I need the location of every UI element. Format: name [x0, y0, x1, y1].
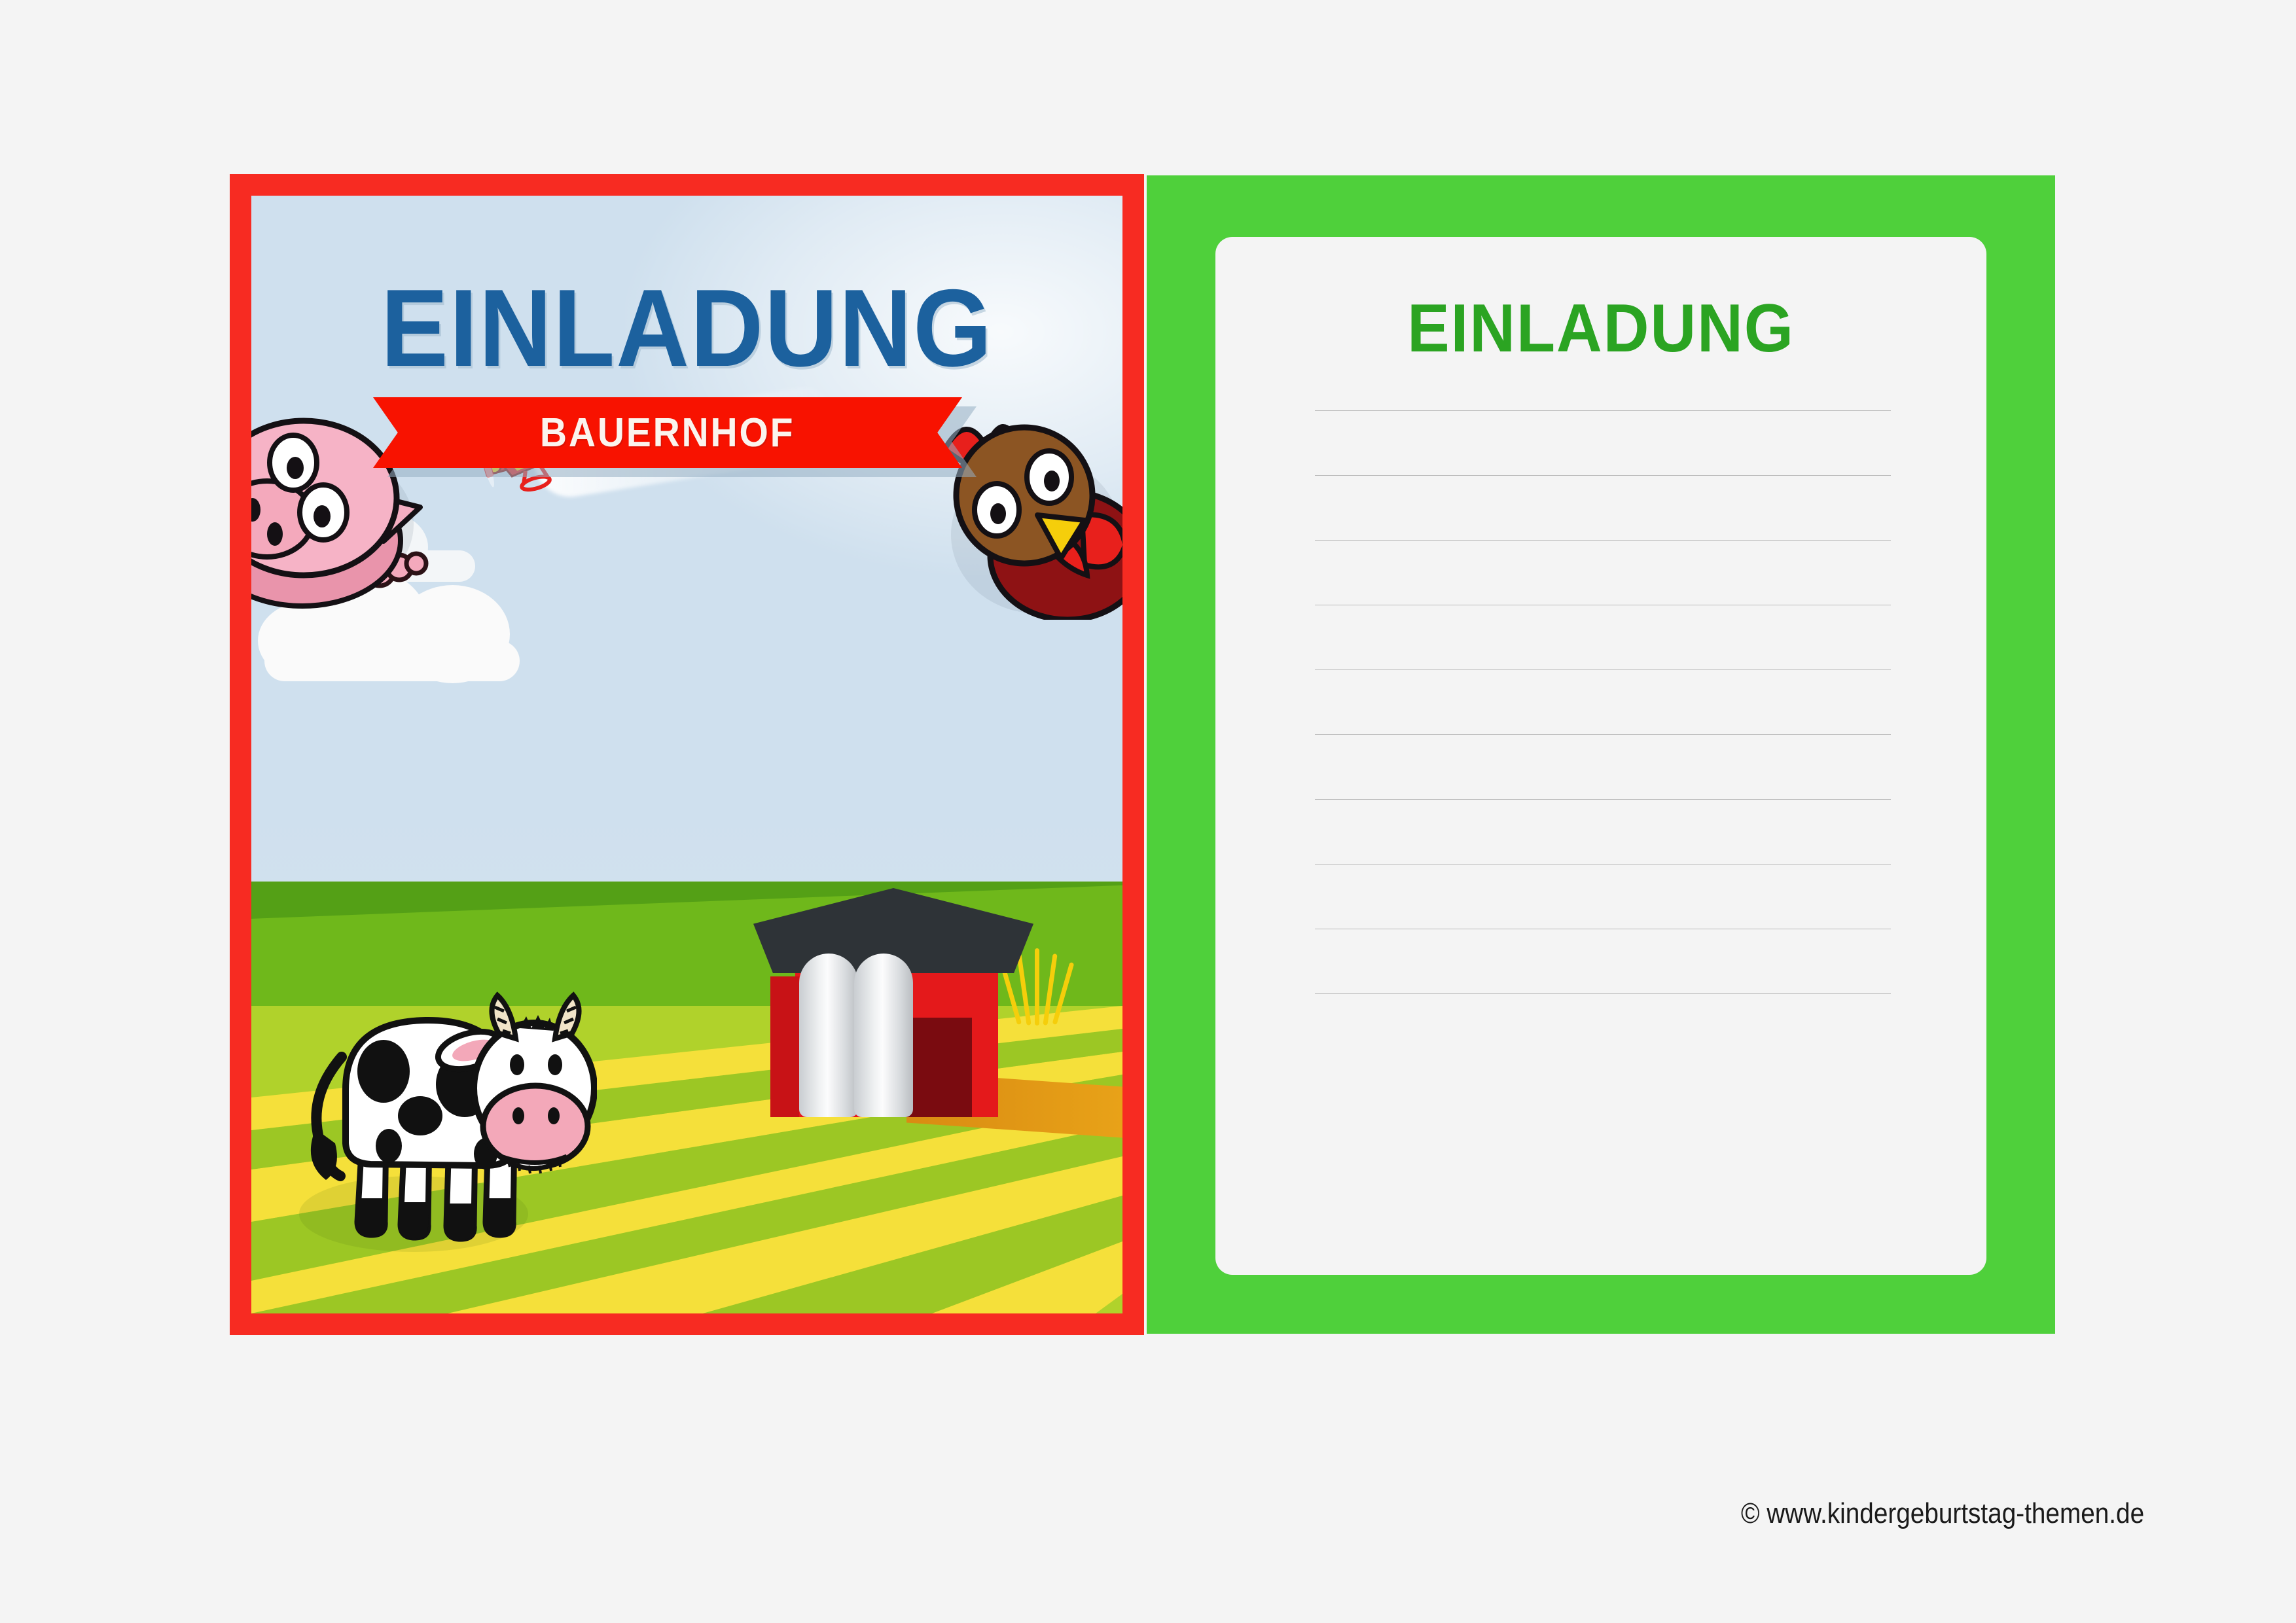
note-title: EINLADUNG: [1242, 294, 1960, 363]
note-area: EINLADUNG: [1215, 237, 1986, 1275]
theme-banner: BAUERNHOF: [251, 397, 1122, 476]
invitation-inside-card: EINLADUNG: [1147, 175, 2055, 1334]
write-line[interactable]: [1315, 929, 1891, 929]
page-title: EINLADUNG: [286, 273, 1088, 383]
write-line[interactable]: [1315, 605, 1891, 605]
silo-icon: [799, 954, 858, 1117]
write-line[interactable]: [1315, 540, 1891, 541]
title-block: EINLADUNG BAUERNHOF: [251, 273, 1122, 476]
banner-ribbon: BAUERNHOF: [373, 397, 962, 468]
copyright-notice: © www.kindergeburtstag-themen.de: [1741, 1497, 2144, 1530]
write-line[interactable]: [1315, 475, 1891, 476]
barn-icon: [756, 888, 1031, 1117]
writing-lines[interactable]: [1315, 410, 1891, 994]
farm-scene: EINLADUNG BAUERNHOF: [251, 196, 1122, 1313]
write-line[interactable]: [1315, 410, 1891, 411]
write-line[interactable]: [1315, 669, 1891, 670]
banner-label: BAUERNHOF: [540, 410, 795, 456]
write-line[interactable]: [1315, 799, 1891, 800]
write-line[interactable]: [1315, 993, 1891, 994]
silo-icon: [854, 954, 913, 1117]
write-line[interactable]: [1315, 864, 1891, 865]
invitation-front-card: EINLADUNG BAUERNHOF: [230, 174, 1144, 1335]
cow-icon: [289, 965, 597, 1266]
barn-wall-side: [770, 976, 799, 1117]
write-line[interactable]: [1315, 734, 1891, 735]
